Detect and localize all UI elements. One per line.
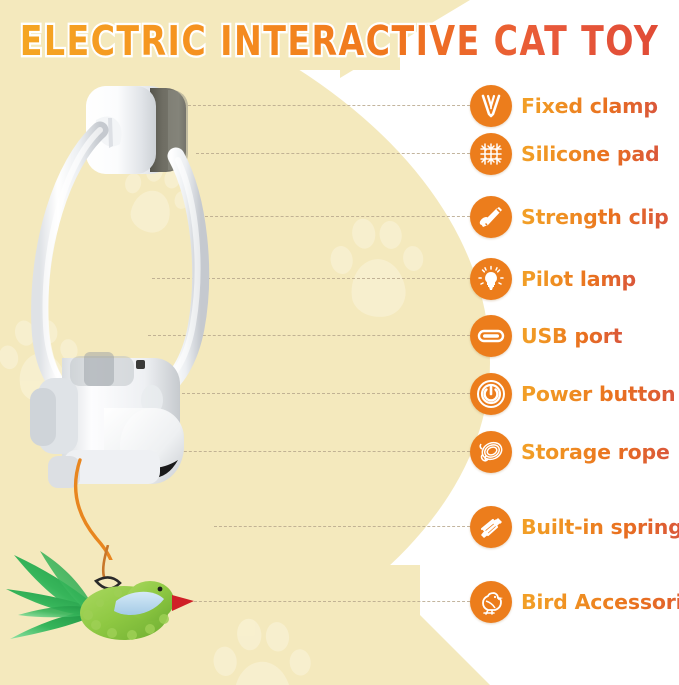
paw-print-watermark [323, 209, 433, 325]
paw-print-watermark [207, 610, 319, 685]
feature-item-storage-rope[interactable]: Storage rope [470, 431, 670, 473]
feature-label: Silicone pad [521, 142, 660, 166]
feature-label: Pilot lamp [521, 267, 636, 291]
page-title: ELECTRIC INTERACTIVE CAT TOY [17, 20, 662, 64]
bird-string [103, 545, 108, 577]
feature-label: Power button [521, 382, 675, 406]
feature-item-built-in-spring[interactable]: Built-in spring [470, 506, 679, 548]
feature-label: USB port [521, 324, 622, 348]
connector-dashed-line [184, 601, 470, 602]
feature-label: Fixed clamp [521, 94, 658, 118]
feather-tail [6, 551, 94, 639]
infographic-canvas: ELECTRIC INTERACTIVE CAT TOY ELECTRIC IN… [0, 0, 679, 685]
clamp-arm-right [158, 156, 201, 394]
fixed-clamp-icon [470, 85, 512, 127]
feature-item-fixed-clamp[interactable]: Fixed clamp [470, 85, 658, 127]
feature-label: Storage rope [521, 440, 670, 464]
storage-rope-icon [470, 431, 512, 473]
strength-clip-icon [470, 196, 512, 238]
pilot-lamp-icon [470, 258, 512, 300]
silicone-pad-icon [470, 133, 512, 175]
feature-item-usb-port[interactable]: USB port [470, 315, 622, 357]
power-button-icon [470, 373, 512, 415]
bird-eye [158, 587, 163, 592]
feature-label: Strength clip [521, 205, 669, 229]
bird-accessories-icon [470, 581, 512, 623]
feature-item-pilot-lamp[interactable]: Pilot lamp [470, 258, 636, 300]
feature-item-silicone-pad[interactable]: Silicone pad [470, 133, 660, 175]
feature-item-power-button[interactable]: Power button [470, 373, 675, 415]
bird-beak [172, 595, 194, 611]
pilot-lamp-led [136, 360, 145, 369]
bird-toy [0, 545, 220, 665]
product-image [0, 60, 260, 560]
feature-label: Built-in spring [521, 515, 679, 539]
usb-port-icon [470, 315, 512, 357]
feature-item-bird-accessories[interactable]: Bird Accessories [470, 581, 679, 623]
built-in-spring-icon [470, 506, 512, 548]
feature-label: Bird Accessories [521, 590, 679, 614]
feature-item-strength-clip[interactable]: Strength clip [470, 196, 669, 238]
